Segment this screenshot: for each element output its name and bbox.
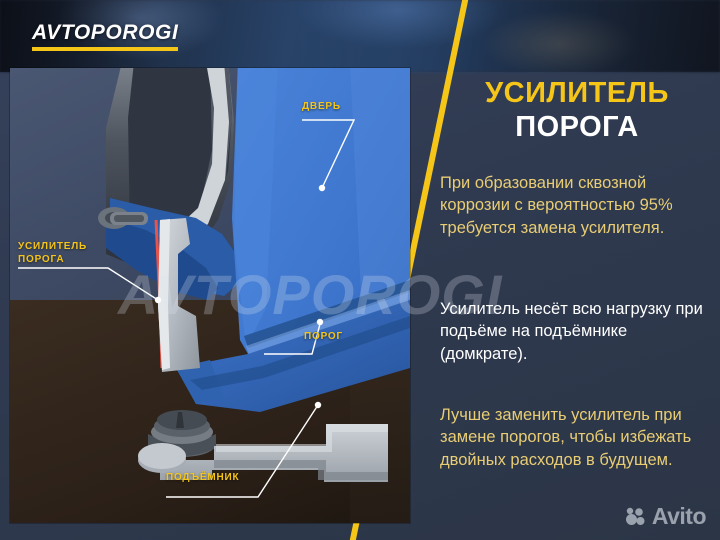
brand-logo-text: AVTOPOROGI: [32, 22, 178, 43]
body-paragraph-3: Лучше заменить усилитель при замене поро…: [440, 404, 712, 471]
headline-line1: УСИЛИТЕЛЬ: [444, 78, 710, 110]
callout-label-reinforcer: УСИЛИТЕЛЬ ПОРОГА: [18, 241, 87, 266]
avito-watermark: Avito: [625, 503, 706, 530]
body-paragraph-2: Усилитель несёт всю нагрузку при подъёме…: [440, 298, 712, 365]
callout-label-reinforcer-line1: УСИЛИТЕЛЬ: [18, 241, 87, 254]
callout-label-door: ДВЕРЬ: [302, 101, 341, 114]
illustration-panel: [10, 68, 410, 523]
brand-logo-underline: [32, 47, 178, 51]
callout-label-sill: ПОРОГ: [304, 331, 343, 344]
headline-line2: ПОРОГА: [444, 112, 710, 144]
car-sill-cutaway-drawing: [10, 68, 410, 523]
promo-image: AVTOPOROGI: [0, 0, 720, 540]
callout-label-lift: ПОДЪЁМНИК: [166, 472, 239, 485]
brand-logo: AVTOPOROGI: [32, 22, 178, 51]
avito-logo-text: Avito: [652, 503, 706, 530]
callout-label-reinforcer-line2: ПОРОГА: [18, 254, 87, 267]
headline: УСИЛИТЕЛЬ ПОРОГА: [444, 78, 710, 144]
body-paragraph-1: При образовании сквозной коррозии с веро…: [440, 172, 712, 239]
avito-logo-icon: [625, 507, 647, 527]
